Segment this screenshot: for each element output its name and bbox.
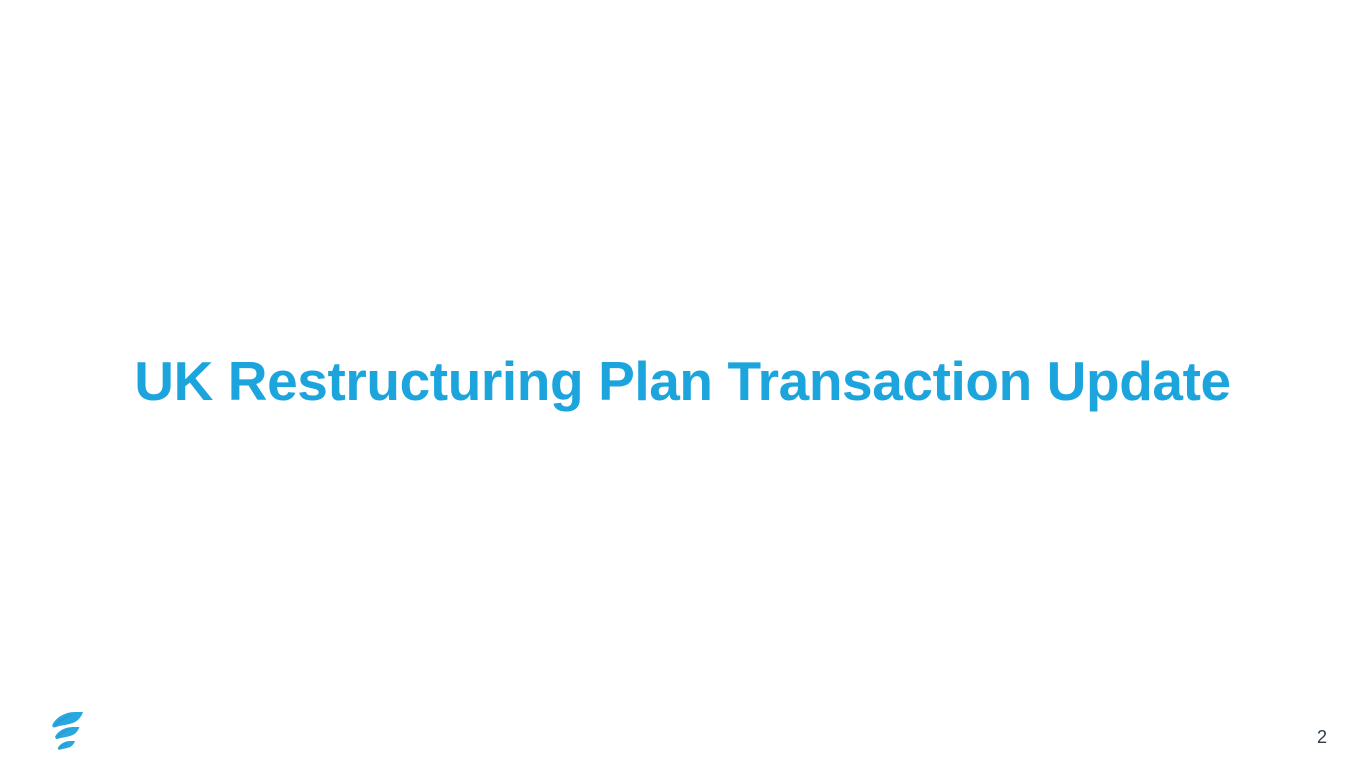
page-title: UK Restructuring Plan Transaction Update [134, 353, 1230, 411]
slide-canvas: UK Restructuring Plan Transaction Update… [0, 0, 1365, 768]
page-number: 2 [1317, 728, 1327, 746]
title-block: UK Restructuring Plan Transaction Update [0, 336, 1365, 428]
company-logo [49, 711, 87, 753]
